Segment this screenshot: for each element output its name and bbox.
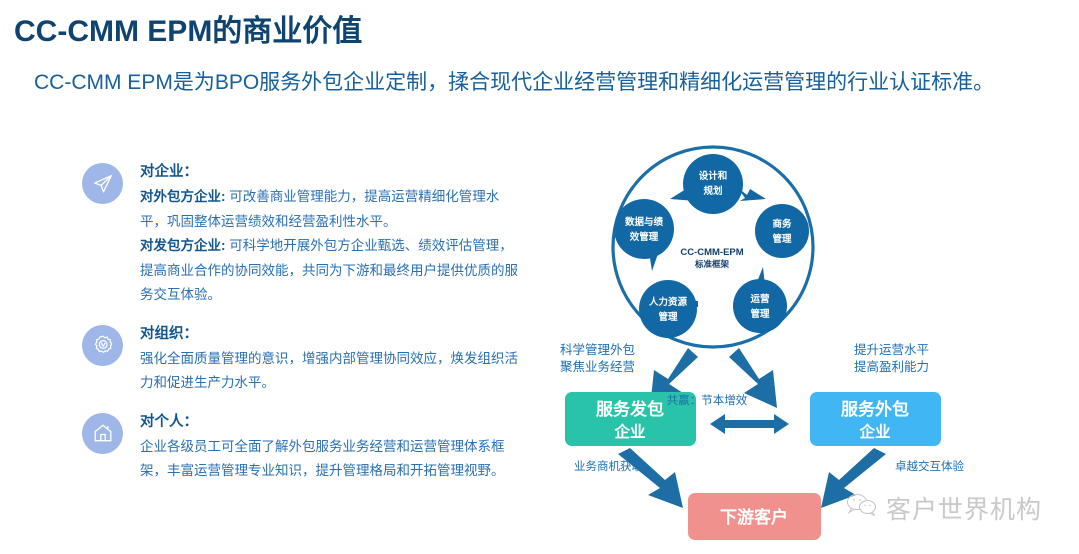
gear-icon [82,325,123,366]
intro-paragraph: CC-CMM EPM是为BPO服务外包企业定制，揉合现代企业经营管理和精细化运营… [34,62,1064,104]
bullet-paragraph: 对发包方企业: 可科学地开展外包方企业甄选、绩效评估管理，提高商业合作的协同效能… [140,234,522,308]
list-item: 对个人： 企业各级员工可全面了解外包服务业务经营和运营管理体系框架，丰富运营管理… [82,410,522,484]
node-hr-line1: 人力资源 [649,296,688,308]
box-left-line1: 服务发包 [596,399,664,419]
bullet-paragraph: 企业各级员工可全面了解外包服务业务经营和运营管理体系框架，丰富运营管理专业知识，… [140,435,522,484]
node-operation [733,279,787,333]
bullet-heading: 对企业： [140,160,522,184]
box-left-line2: 企业 [613,422,645,441]
arrow-left-to-customer [618,448,683,508]
node-operation-line2: 管理 [750,308,770,320]
bullet-paragraph: 对外包方企业: 可改善商业管理能力，提高运营精细化管理水平，巩固整体运营绩效和经… [140,185,522,234]
node-data-line2: 效管理 [630,231,659,243]
bullet-heading: 对个人： [140,410,522,434]
node-data [614,199,674,259]
wechat-icon [845,492,879,525]
watermark: 客户世界机构 [845,490,1042,526]
node-design-line2: 规划 [703,185,722,197]
bullet-lead: 对发包方企业: [140,238,226,253]
node-business [755,204,809,258]
paper-plane-icon [82,163,123,204]
node-hr-line2: 管理 [658,311,678,323]
bullet-body: 强化全面质量管理的意识，增强内部管理协同效应，焕发组织活力和促进生产力水平。 [140,347,522,396]
middle-caption: 共赢：节本增效 [667,393,748,407]
box-right-line2: 企业 [858,422,890,441]
bullet-lead: 对外包方企业: [140,189,226,204]
node-design-line1: 设计和 [699,170,728,182]
left-caption-line1: 科学管理外包 [560,342,635,357]
box-right-line1: 服务外包 [841,399,909,419]
watermark-text: 客户世界机构 [886,490,1042,526]
bullet-body: 对外包方企业: 可改善商业管理能力，提高运营精细化管理水平，巩固整体运营绩效和经… [140,185,522,308]
node-business-line1: 商务 [772,218,792,230]
bullet-body: 企业各级员工可全面了解外包服务业务经营和运营管理体系框架，丰富运营管理专业知识，… [140,435,522,484]
node-design [683,154,743,214]
list-item: 对组织： 强化全面质量管理的意识，增强内部管理协同效应，焕发组织活力和促进生产力… [82,322,522,396]
left-caption-line2: 聚焦业务经营 [560,359,635,374]
page-title: CC-CMM EPM的商业价值 [14,6,362,50]
node-operation-line1: 运营 [750,293,770,305]
list-item: 对企业： 对外包方企业: 可改善商业管理能力，提高运营精细化管理水平，巩固整体运… [82,160,522,308]
node-business-line2: 管理 [772,233,792,245]
benefits-list: 对企业： 对外包方企业: 可改善商业管理能力，提高运营精细化管理水平，巩固整体运… [82,160,522,498]
node-hr [639,280,697,338]
center-subtitle: 标准框架 [694,259,730,269]
bottom-left-caption: 业务商机获取 [574,459,643,473]
home-icon [82,413,123,454]
center-title: CC-CMM-EPM [680,247,743,258]
bullet-paragraph: 强化全面质量管理的意识，增强内部管理协同效应，焕发组织活力和促进生产力水平。 [140,347,522,396]
right-caption-line2: 提高盈利能力 [854,359,929,374]
box-bottom-label: 下游客户 [720,507,788,527]
right-caption-line1: 提升运营水平 [854,342,929,357]
bottom-right-caption: 卓越交互体验 [895,459,964,473]
node-data-line1: 数据与绩 [624,216,664,228]
bullet-heading: 对组织： [140,322,522,346]
double-arrow-winwin [710,414,789,434]
